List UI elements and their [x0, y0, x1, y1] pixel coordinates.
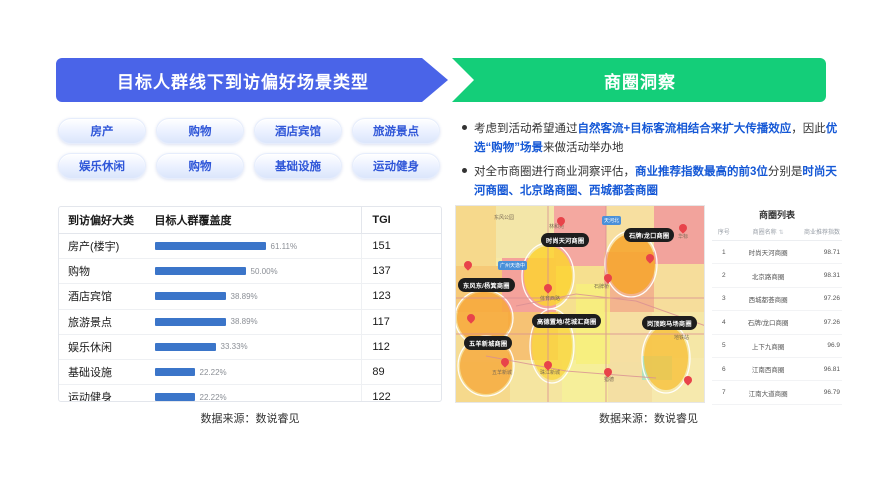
cell-no: 1 — [712, 249, 736, 256]
header-banner-row: 目标人群线下到访偏好场景类型 商圈洞察 — [56, 58, 840, 102]
banner-right-title: 商圈洞察 — [604, 68, 676, 93]
header-recommend-index: 商业推荐指数 — [801, 227, 842, 236]
cell-tgi: 151 — [361, 234, 441, 258]
cell-coverage: 22.22% — [151, 368, 362, 377]
coverage-bar — [155, 368, 195, 376]
source-caption-left: 数据来源：数说睿见 — [58, 410, 442, 426]
map-tag-tianhebei: 天河北 — [602, 216, 621, 225]
cell-tgi: 89 — [361, 360, 441, 384]
table-row: 旅游景点38.89%117 — [59, 310, 441, 335]
cell-no: 6 — [712, 366, 736, 373]
table-row: 基础设施22.22%89 — [59, 360, 441, 385]
map-label-shishang-tianhe[interactable]: 时尚天河商圈 — [541, 233, 589, 247]
cell-recommend-index: 96.79 — [801, 389, 842, 396]
header-category: 到访偏好大类 — [59, 212, 151, 228]
coverage-bar — [155, 318, 226, 326]
header-tgi: TGI — [361, 207, 441, 233]
scene-tag-yundong[interactable]: 运动健身 — [352, 153, 440, 179]
map-place-dongfeng-park: 东风公园 — [494, 214, 514, 221]
highlighted-phrase: 商业推荐指数最高的前3位 — [635, 166, 768, 178]
cell-no: 4 — [712, 319, 736, 326]
table-row: 购物50.00%137 — [59, 259, 441, 284]
bullet-dot-icon — [462, 163, 474, 201]
banner-left-title: 目标人群线下到访偏好场景类型 — [117, 68, 369, 93]
cell-coverage: 50.00% — [151, 267, 362, 276]
header-no: 序号 — [712, 227, 736, 236]
cell-category: 运动健身 — [59, 389, 151, 402]
cell-district-name: 北京路商圈 — [736, 271, 801, 281]
coverage-value: 50.00% — [251, 267, 278, 276]
scene-tag-row-2: 娱乐休闲 购物 基础设施 运动健身 — [58, 153, 442, 179]
cell-recommend-index: 97.26 — [801, 319, 842, 326]
cell-no: 7 — [712, 389, 736, 396]
coverage-value: 22.22% — [200, 393, 227, 402]
plain-phrase: ，因此 — [791, 123, 826, 135]
cell-coverage: 22.22% — [151, 393, 362, 402]
cell-district-name: 时尚天河商圈 — [736, 247, 801, 257]
cell-no: 2 — [712, 272, 736, 279]
map-place-huabiao: 华标 — [678, 233, 688, 240]
cell-recommend-index: 96.81 — [801, 366, 842, 373]
scene-tag-jichu[interactable]: 基础设施 — [254, 153, 342, 179]
cell-coverage: 38.89% — [151, 317, 362, 326]
cell-tgi: 112 — [361, 335, 441, 359]
district-list-title: 商圈列表 — [712, 205, 842, 227]
slide-root: 目标人群线下到访偏好场景类型 商圈洞察 房产 购物 酒店宾馆 旅游景点 娱乐休闲… — [0, 0, 896, 504]
table-row[interactable]: 3西城都荟商圈97.26 — [712, 288, 842, 311]
cell-tgi: 137 — [361, 259, 441, 283]
cell-coverage: 61.11% — [151, 242, 362, 251]
cell-tgi: 122 — [361, 385, 441, 402]
scene-tag-lvyou[interactable]: 旅游景点 — [352, 118, 440, 144]
cell-recommend-index: 98.31 — [801, 272, 842, 279]
bullet-dot-icon — [462, 120, 474, 158]
table-row[interactable]: 2北京路商圈98.31 — [712, 264, 842, 287]
source-caption-right: 数据来源：数说睿见 — [455, 410, 842, 426]
preference-table: 到访偏好大类 目标人群覆盖度 TGI 房产(楼宇)61.11%151购物50.0… — [58, 206, 442, 402]
plain-phrase: 来做活动举办地 — [543, 142, 624, 154]
cell-no: 3 — [712, 295, 736, 302]
map-label-gangding-paomachang[interactable]: 岗顶跑马场商圈 — [642, 316, 697, 330]
plain-phrase: 考虑到活动希望通过 — [474, 123, 578, 135]
map-place-zhujiangxincheng: 珠江新城 — [540, 369, 560, 376]
scene-tag-row-1: 房产 购物 酒店宾馆 旅游景点 — [58, 118, 442, 144]
header-district-name-label: 商圈名称 — [753, 230, 777, 236]
coverage-value: 22.22% — [200, 368, 227, 377]
map-place-liede: 猎德 — [604, 376, 614, 383]
cell-category: 房产(楼宇) — [59, 238, 151, 254]
scene-tag-gouwu-1[interactable]: 购物 — [156, 118, 244, 144]
banner-left: 目标人群线下到访偏好场景类型 — [56, 58, 448, 102]
header-coverage: 目标人群覆盖度 — [151, 212, 362, 228]
map-place-ditiezhan: 地铁站 — [674, 334, 689, 341]
insight-text-1: 考虑到活动希望通过自然客流+目标客流相结合来扩大传播效应，因此优选“购物”场景来… — [474, 120, 842, 158]
business-district-heatmap[interactable]: 东风公园 林和苑 天河北 华标 广州天逸中 石牌桥 体育西路 珠江新城 五羊新城… — [455, 205, 705, 403]
scene-tag-gouwu-2[interactable]: 购物 — [156, 153, 244, 179]
coverage-bar — [155, 242, 266, 250]
plain-phrase: 对全市商圈进行商业洞察评估， — [474, 166, 635, 178]
insight-bullet-list: 考虑到活动希望通过自然客流+目标客流相结合来扩大传播效应，因此优选“购物”场景来… — [462, 120, 842, 206]
insight-text-2: 对全市商圈进行商业洞察评估，商业推荐指数最高的前3位分别是时尚天河商圈、北京路商… — [474, 163, 842, 201]
table-row: 娱乐休闲33.33%112 — [59, 335, 441, 360]
map-place-shipaiqiao: 石牌桥 — [594, 283, 609, 290]
cell-tgi: 123 — [361, 284, 441, 308]
scene-tag-fangchan[interactable]: 房产 — [58, 118, 146, 144]
cell-district-name: 江南大道商圈 — [736, 388, 801, 398]
cell-coverage: 38.89% — [151, 292, 362, 301]
cell-category: 酒店宾馆 — [59, 288, 151, 304]
map-label-dongfengdong-yangji[interactable]: 东风东/杨箕商圈 — [458, 278, 515, 292]
coverage-bar — [155, 267, 246, 275]
cell-district-name: 石牌/龙口商圈 — [736, 317, 801, 327]
cell-recommend-index: 97.26 — [801, 295, 842, 302]
plain-phrase: 分别是 — [768, 166, 803, 178]
preference-table-header: 到访偏好大类 目标人群覆盖度 TGI — [59, 207, 441, 234]
sort-icon[interactable]: ⇅ — [779, 229, 784, 236]
cell-district-name: 江南西商圈 — [736, 364, 801, 374]
table-row: 酒店宾馆38.89%123 — [59, 284, 441, 309]
cell-district-name: 西城都荟商圈 — [736, 294, 801, 304]
cell-category: 旅游景点 — [59, 314, 151, 330]
table-row[interactable]: 1时尚天河商圈98.71 — [712, 241, 842, 264]
cell-no: 5 — [712, 342, 736, 349]
coverage-value: 38.89% — [231, 317, 258, 326]
table-row[interactable]: 5上下九商圈96.9 — [712, 335, 842, 358]
map-place-wuyangxincheng: 五羊新城 — [492, 369, 512, 376]
header-district-name[interactable]: 商圈名称⇅ — [736, 227, 801, 236]
table-row: 运动健身22.22%122 — [59, 385, 441, 402]
banner-right: 商圈洞察 — [434, 58, 826, 102]
table-row[interactable]: 6江南西商圈96.81 — [712, 358, 842, 381]
cell-category: 基础设施 — [59, 364, 151, 380]
preference-table-body: 房产(楼宇)61.11%151购物50.00%137酒店宾馆38.89%123旅… — [59, 234, 441, 402]
list-item: 考虑到活动希望通过自然客流+目标客流相结合来扩大传播效应，因此优选“购物”场景来… — [462, 120, 842, 158]
map-label-gaode-huachenghui[interactable]: 高德置地/花城汇商圈 — [532, 314, 601, 328]
map-label-wuyang-xincheng[interactable]: 五羊新城商圈 — [464, 336, 512, 350]
district-list-header: 序号 商圈名称⇅ 商业推荐指数 — [712, 227, 842, 241]
coverage-value: 61.11% — [271, 242, 298, 251]
coverage-value: 33.33% — [221, 342, 248, 351]
coverage-bar — [155, 343, 216, 351]
cell-tgi: 117 — [361, 310, 441, 334]
coverage-bar — [155, 292, 226, 300]
map-tag-guangzhou-tianyi: 广州天逸中 — [498, 261, 527, 270]
scene-tag-jiudian[interactable]: 酒店宾馆 — [254, 118, 342, 144]
coverage-value: 38.89% — [231, 292, 258, 301]
district-list-body: 1时尚天河商圈98.712北京路商圈98.313西城都荟商圈97.264石牌/龙… — [712, 241, 842, 405]
highlighted-phrase: 自然客流+目标客流相结合来扩大传播效应 — [578, 123, 792, 135]
cell-district-name: 上下九商圈 — [736, 341, 801, 351]
cell-category: 娱乐休闲 — [59, 339, 151, 355]
cell-recommend-index: 98.71 — [801, 249, 842, 256]
table-row[interactable]: 4石牌/龙口商圈97.26 — [712, 311, 842, 334]
map-place-tiyuxilu: 体育西路 — [540, 295, 560, 302]
cell-coverage: 33.33% — [151, 342, 362, 351]
map-label-shipai-longkou[interactable]: 石牌/龙口商圈 — [624, 228, 674, 242]
cell-recommend-index: 96.9 — [801, 342, 842, 349]
cell-category: 购物 — [59, 263, 151, 279]
table-row[interactable]: 7江南大道商圈96.79 — [712, 381, 842, 404]
scene-tag-yule[interactable]: 娱乐休闲 — [58, 153, 146, 179]
scene-tag-list: 房产 购物 酒店宾馆 旅游景点 娱乐休闲 购物 基础设施 运动健身 — [58, 118, 442, 188]
district-list-table: 商圈列表 序号 商圈名称⇅ 商业推荐指数 1时尚天河商圈98.712北京路商圈9… — [712, 205, 842, 403]
coverage-bar — [155, 393, 195, 401]
list-item: 对全市商圈进行商业洞察评估，商业推荐指数最高的前3位分别是时尚天河商圈、北京路商… — [462, 163, 842, 201]
table-row: 房产(楼宇)61.11%151 — [59, 234, 441, 259]
